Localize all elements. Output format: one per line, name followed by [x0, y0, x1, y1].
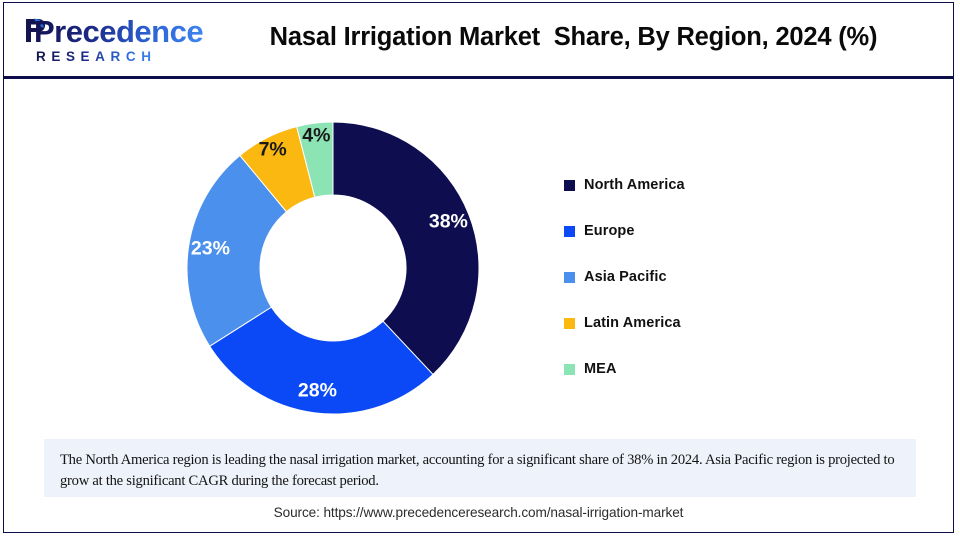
- donut-chart-svg: [186, 121, 480, 415]
- legend-item[interactable]: Asia Pacific: [564, 254, 844, 300]
- donut-chart: 38%28%23%7%4%: [186, 121, 480, 415]
- card-header: Precedence RESEARCH Nasal Irrigation Mar…: [4, 3, 953, 79]
- chart-body: 38%28%23%7%4% North AmericaEuropeAsia Pa…: [4, 79, 953, 532]
- legend-color-swatch: [564, 318, 575, 329]
- legend-item[interactable]: North America: [564, 162, 844, 208]
- legend-item-label: Europe: [584, 223, 635, 239]
- source-line: Source: https://www.precedenceresearch.c…: [4, 505, 953, 520]
- legend-item-label: Latin America: [584, 315, 681, 331]
- legend-color-swatch: [564, 180, 575, 191]
- chart-legend: North AmericaEuropeAsia PacificLatin Ame…: [564, 162, 844, 392]
- legend-item-label: North America: [584, 177, 685, 193]
- legend-item[interactable]: Europe: [564, 208, 844, 254]
- insight-callout: The North America region is leading the …: [44, 439, 916, 497]
- legend-color-swatch: [564, 272, 575, 283]
- legend-item-label: Asia Pacific: [584, 269, 667, 285]
- legend-color-swatch: [564, 364, 575, 375]
- chart-card: Precedence RESEARCH Nasal Irrigation Mar…: [3, 2, 954, 533]
- page-title: Nasal Irrigation Market Share, By Region…: [214, 23, 933, 52]
- logo-wordmark: Precedence: [34, 15, 203, 49]
- insight-text: The North America region is leading the …: [60, 450, 900, 492]
- legend-item-label: MEA: [584, 361, 617, 377]
- legend-item[interactable]: Latin America: [564, 300, 844, 346]
- precedence-research-logo: Precedence RESEARCH: [14, 15, 204, 67]
- donut-slices: [187, 122, 479, 414]
- logo-subtext: RESEARCH: [36, 49, 157, 65]
- legend-item[interactable]: MEA: [564, 346, 844, 392]
- donut-slice[interactable]: [333, 122, 479, 374]
- legend-color-swatch: [564, 226, 575, 237]
